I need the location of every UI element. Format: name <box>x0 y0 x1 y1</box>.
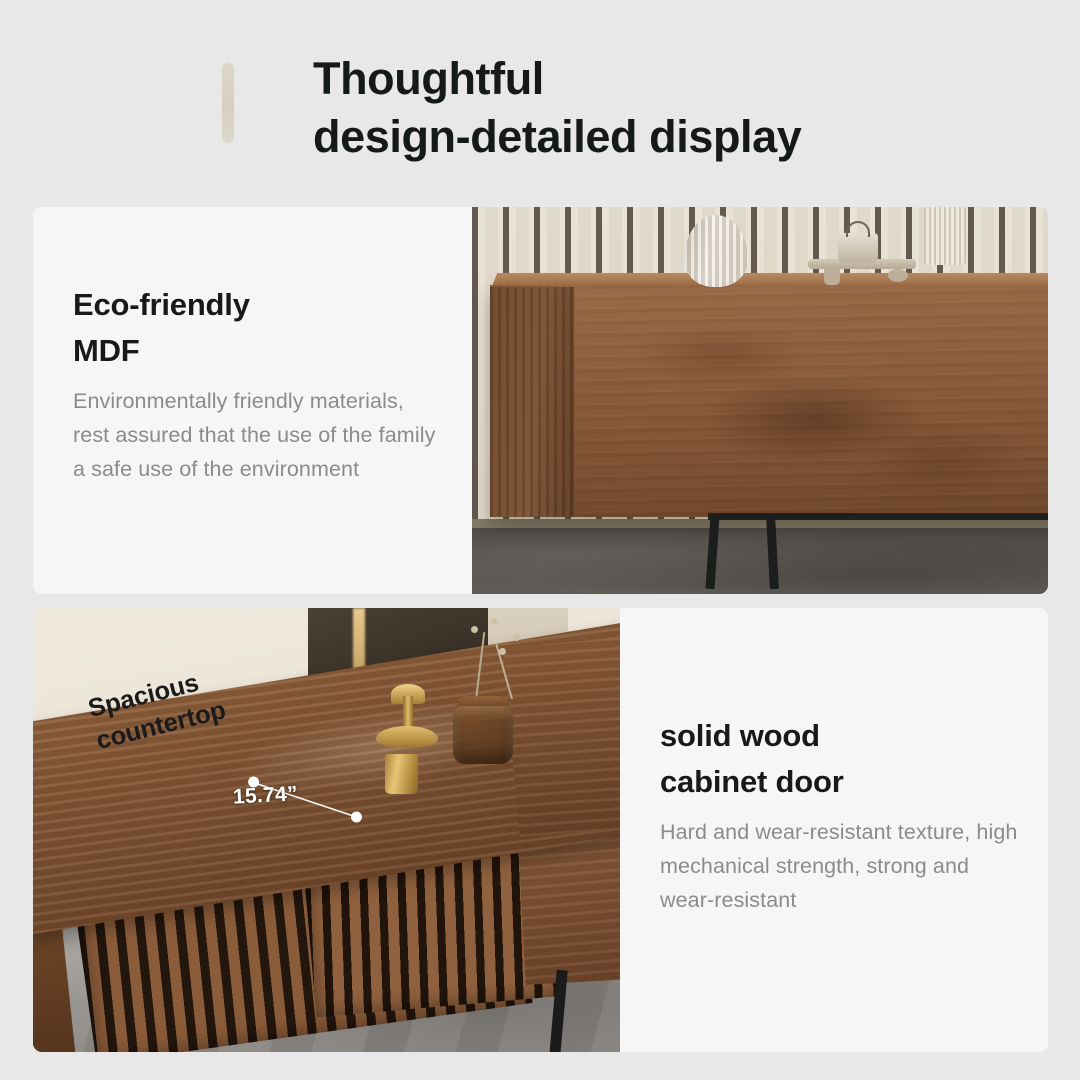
feature-photo-media-cabinet: Spacious countertop 15.74” <box>33 608 620 1052</box>
branch-bud <box>499 648 506 655</box>
brass-cup-decor <box>385 754 418 794</box>
product-feature-page: Thoughtful design-detailed display Eco-f… <box>0 0 1080 1080</box>
feature-card-eco-friendly-mdf: Eco-friendly MDF Environmentally friendl… <box>33 207 1048 594</box>
accent-bar-icon <box>222 63 234 143</box>
branch-bud <box>491 618 498 625</box>
feature-title: Eco-friendly MDF <box>73 282 446 374</box>
feature-description: Hard and wear-resistant texture, high me… <box>660 815 1022 917</box>
branch-bud <box>513 634 520 641</box>
feature-title: solid wood cabinet door <box>660 713 1022 805</box>
branch-bud <box>471 626 478 633</box>
brass-bowl-decor <box>376 726 438 748</box>
feature-text-panel: solid wood cabinet door Hard and wear-re… <box>620 608 1048 1052</box>
page-title: Thoughtful design-detailed display <box>313 50 1033 166</box>
lidded-pot-decor <box>838 233 878 263</box>
cabinet-base-rail <box>708 513 1048 520</box>
dimension-value-label: 15.74” <box>232 782 298 809</box>
feature-text-panel: Eco-friendly MDF Environmentally friendl… <box>33 207 472 594</box>
feature-description: Environmentally friendly materials, rest… <box>73 384 446 486</box>
brass-candleholder-stem <box>403 696 413 730</box>
cabinet-side-panel <box>490 287 574 517</box>
tray-foot <box>824 269 840 285</box>
feature-photo-sideboard <box>472 207 1048 594</box>
ribbed-vessel-decor <box>924 207 966 265</box>
feature-card-solid-wood-cabinet-door: Spacious countertop 15.74” solid wood ca… <box>33 608 1048 1052</box>
amber-glass-jar-decor <box>453 706 513 764</box>
cabinet-countertop-right <box>503 617 620 838</box>
page-header: Thoughtful design-detailed display <box>0 0 1080 195</box>
tray-foot <box>888 269 908 282</box>
floor <box>472 528 1048 594</box>
